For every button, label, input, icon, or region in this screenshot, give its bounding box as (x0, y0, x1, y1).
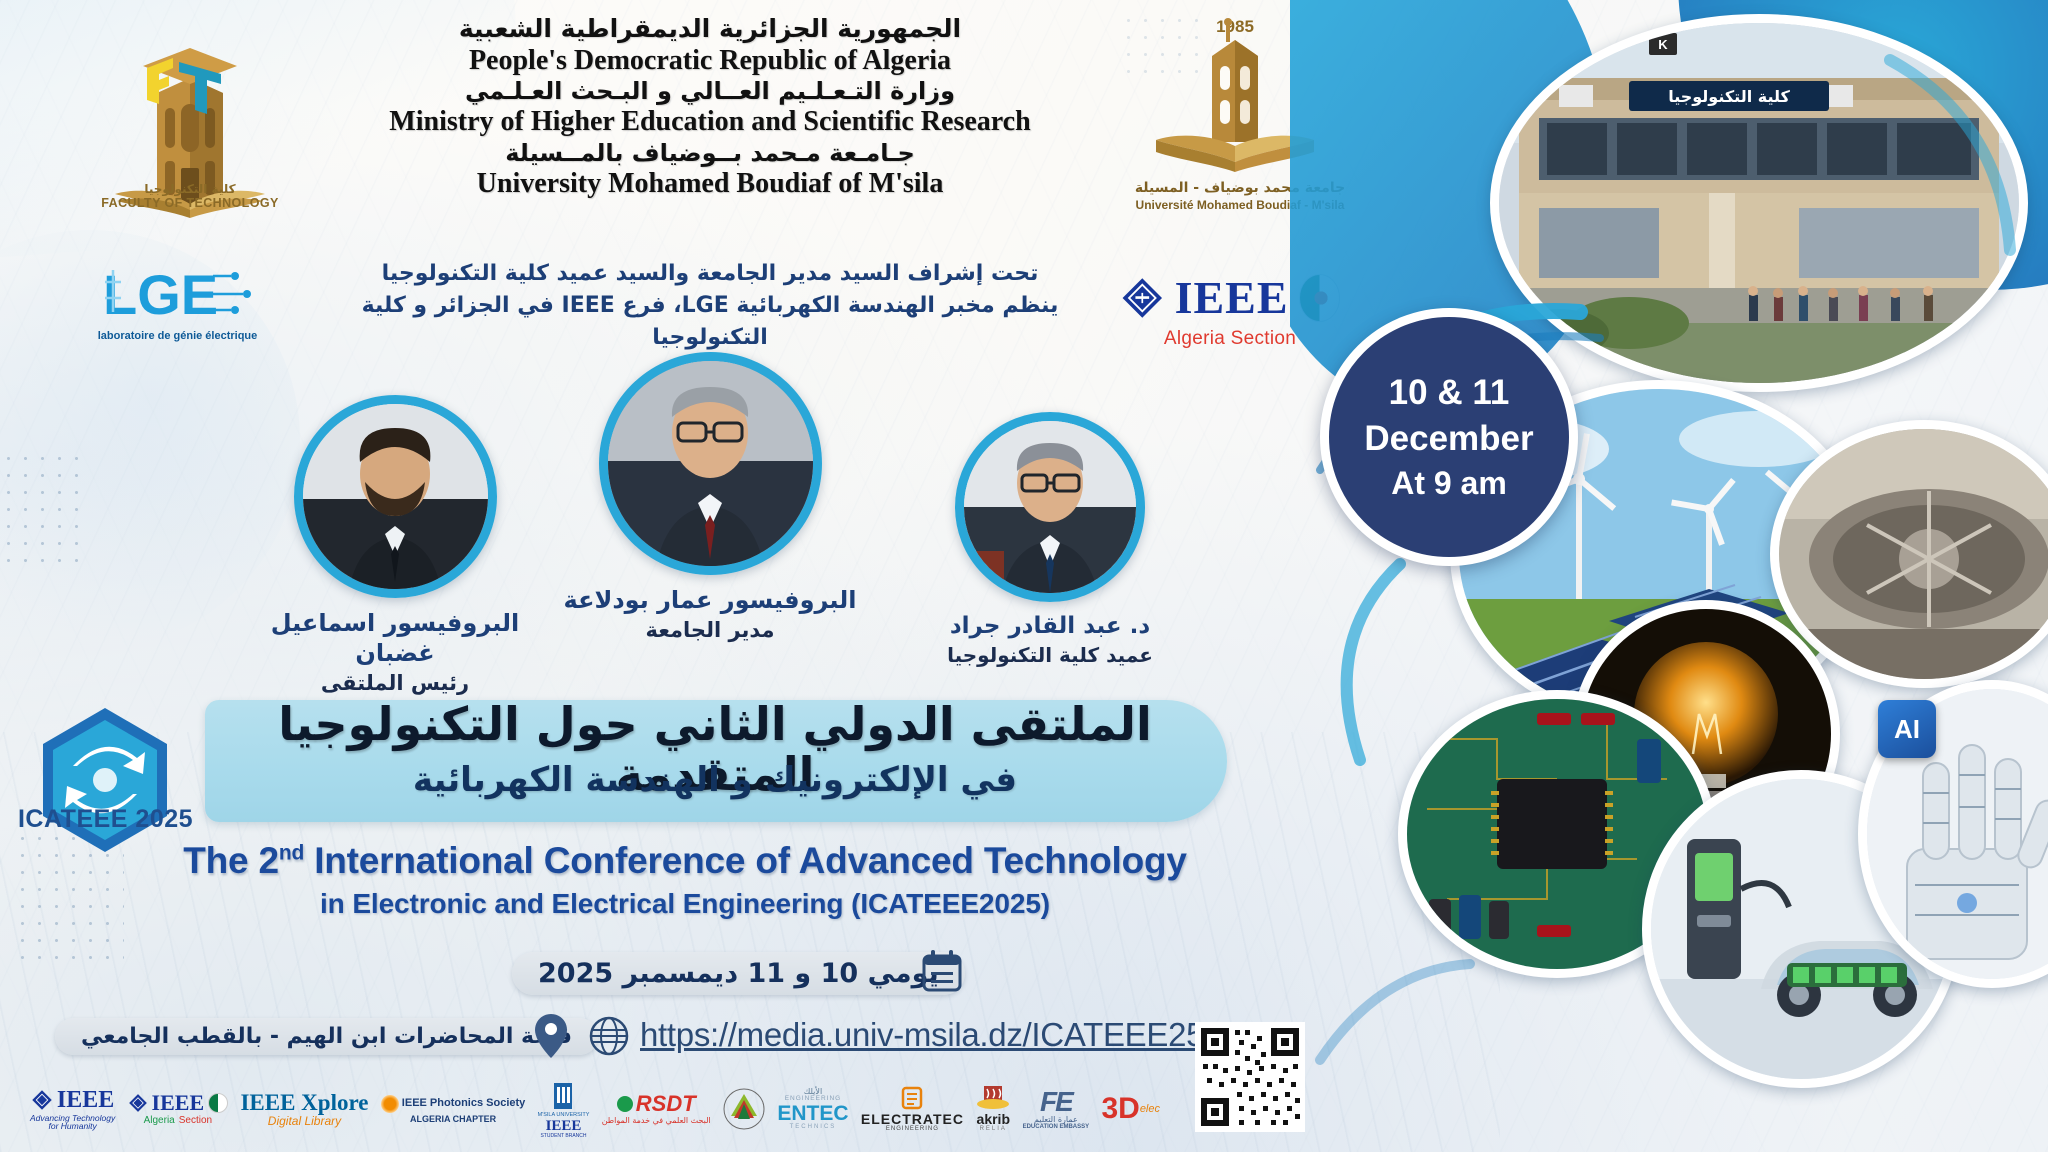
speaker-1-name: البروفيسور اسماعيل غضبان (240, 608, 550, 668)
sponsor-11-name: 3D (1101, 1094, 1139, 1124)
header-institution-text: الجمهورية الجزائرية الديمقراطية الشعبية … (330, 14, 1090, 201)
speaker-1-role: رئيس الملتقى (240, 670, 550, 696)
kersi-emblem-icon (723, 1088, 765, 1130)
sponsor-10-name: FE (1040, 1088, 1072, 1116)
sunburst-icon (381, 1095, 399, 1113)
date-badge-line-2: December (1364, 416, 1533, 462)
header-line-ar-2: وزارة التـعـلـيم العــالي و البـحث العـل… (330, 77, 1090, 105)
header-line-en-3: University Mohamed Boudiaf of M'sila (330, 167, 1090, 201)
speaker-1-avatar (294, 395, 497, 598)
speaker-card-1: البروفيسور اسماعيل غضبان رئيس الملتقى (240, 395, 550, 696)
sponsor-5-name: RSDT (636, 1093, 696, 1115)
speaker-card-3: د. عبد القادر جراد عميد كلية التكنولوجيا (900, 412, 1200, 668)
title-arabic-line-2: في الإلكترونيك و الهندسة الكهربائية (210, 762, 1220, 799)
sponsor-1-tagline-1: Algeria (144, 1116, 175, 1126)
title-english-prefix: The 2 (183, 840, 279, 881)
icateee-logo-icon (25, 700, 185, 860)
sponsor-7-tagline-2: TECHNICS (790, 1124, 837, 1130)
akrib-mark-icon (976, 1086, 1010, 1112)
faculty-building-image (1499, 23, 2019, 383)
sponsor-logo-ieee-algeria: IEEE Algeria Section (128, 1092, 229, 1126)
sponsor-9-name: akrib (977, 1112, 1010, 1126)
ieee-diamond-icon (128, 1093, 148, 1113)
sponsor-0-name: IEEE (57, 1088, 114, 1112)
calendar-icon (920, 948, 964, 994)
sponsor-logo-ieee-student-branch: M'SILA UNIVERSITY IEEE STUDENT BRANCH (538, 1079, 590, 1139)
sponsor-logo-kersi (723, 1088, 765, 1130)
university-logo-year: 1985 (1216, 17, 1254, 36)
lge-caption: laboratoire de génie électrique (80, 330, 275, 342)
sponsor-logo-ieee: IEEE Advancing Technology for Humanity (30, 1088, 115, 1131)
photo-faculty-building: كلية التكنولوجيا K (1490, 14, 2028, 392)
sponsor-5-tagline-1: البحث العلمي في خدمة المواطن (602, 1117, 711, 1125)
sponsor-1-tagline-2: Section (179, 1116, 212, 1126)
sponsor-9-tagline-1: RELIA (980, 1126, 1007, 1132)
decor-dot-grid-left (0, 450, 90, 570)
speaker-2-role: مدير الجامعة (545, 617, 875, 643)
lge-laboratory-logo-icon: LGE (95, 252, 260, 342)
header-line-ar-3: جـامـعة مـحمد بــوضياف بالمــسيلة (330, 139, 1090, 167)
sponsor-7-name: ENTEC (777, 1103, 848, 1124)
title-ordinal-suffix: nd (279, 842, 304, 865)
electratec-mark-icon (901, 1086, 923, 1110)
speaker-3-role: عميد كلية التكنولوجيا (900, 643, 1200, 668)
sponsor-logo-akrib: akrib RELIA (976, 1086, 1010, 1132)
sponsor-4-name-short: IEEE (546, 1119, 582, 1134)
speaker-3-avatar (955, 412, 1145, 602)
building-icon (550, 1079, 576, 1113)
ai-label-chip: AI (1878, 700, 1936, 758)
supervision-line-2: ينظم مخبر الهندسة الكهربائية LGE، فرع IE… (330, 290, 1090, 354)
sponsor-11-tagline-1: elec (1140, 1104, 1160, 1115)
speaker-card-2: البروفيسور عمار بودلاعة مدير الجامعة (545, 352, 875, 643)
sponsor-1-name: IEEE (152, 1092, 205, 1114)
map-pin-icon (533, 1012, 569, 1060)
sponsor-0-tagline-2: for Humanity (49, 1122, 97, 1131)
conference-website-link[interactable]: https://media.univ-msila.dz/ICATEEE25/ (640, 1016, 1213, 1054)
algeria-flag-icon (208, 1093, 228, 1113)
sponsor-logo-3d-elec: 3D elec (1101, 1094, 1160, 1124)
header-line-en-1: People's Democratic Republic of Algeria (330, 44, 1090, 78)
sponsor-logo-fe: FE عمارة التعليم EDUCATION EMBASSY (1023, 1088, 1090, 1130)
speaker-2-avatar (599, 352, 822, 575)
event-date-pill: يومي 10 و 11 ديمسمبر 2025 (512, 952, 965, 995)
sponsor-2-name: IEEE Xplore (240, 1091, 368, 1114)
faculty-caption-en: FACULTY OF TECHNOLOGY (60, 196, 320, 210)
photo-collage: كلية التكنولوجيا K (1290, 0, 2048, 1152)
globe-icon (588, 1015, 630, 1057)
icateee-wordmark: ICATEEE 2025 (8, 805, 203, 834)
sponsor-logo-ieee-photonics: IEEE Photonics Society ALGERIA CHAPTER (381, 1095, 525, 1124)
sponsor-8-name: ELECTRATEC (861, 1112, 964, 1126)
building-letter-sign: K (1649, 33, 1677, 55)
ieee-diamond-icon (31, 1089, 53, 1111)
sponsor-logo-rsdt: RSDT البحث العلمي في خدمة المواطن (602, 1093, 711, 1125)
sponsor-10-tagline-2: EDUCATION EMBASSY (1023, 1124, 1090, 1130)
speaker-2-name: البروفيسور عمار بودلاعة (545, 585, 875, 615)
speaker-3-name: د. عبد القادر جراد (900, 612, 1200, 641)
sponsor-logo-ieee-xplore: IEEE Xplore Digital Library (240, 1091, 368, 1127)
ieee-wordmark: IEEE (1175, 275, 1289, 321)
sponsor-10-tagline-1: عمارة التعليم (1034, 1116, 1078, 1124)
ieee-diamond-icon (1120, 272, 1165, 324)
conference-poster: الجمهورية الجزائرية الديمقراطية الشعبية … (0, 0, 2048, 1152)
sponsor-logo-electratec: ELECTRATEC ENGINEERING (861, 1086, 964, 1132)
venue-pill: قاعة المحاضرات ابن الهيم - بالقطب الجامع… (55, 1018, 598, 1055)
lge-wordmark: LGE (103, 263, 218, 326)
supervision-line-1: تحت إشراف السيد مدير الجامعة والسيد عميد… (330, 258, 1090, 290)
sponsor-4-tagline-2: STUDENT BRANCH (540, 1134, 586, 1139)
supervision-text: تحت إشراف السيد مدير الجامعة والسيد عميد… (330, 258, 1090, 354)
building-sign: كلية التكنولوجيا (1629, 81, 1829, 111)
faculty-logo-caption: كلية التكنولوجيا FACULTY OF TECHNOLOGY (60, 182, 320, 210)
title-english-line-2: in Electronic and Electrical Engineering… (150, 888, 1220, 920)
title-english-line-1: The 2nd International Conference of Adva… (150, 840, 1220, 882)
event-date-badge: 10 & 11 December At 9 am (1320, 308, 1578, 566)
sponsor-8-tagline-1: ENGINEERING (886, 1126, 939, 1132)
qr-code[interactable] (1195, 1022, 1305, 1132)
sponsor-3-name: IEEE Photonics Society (402, 1098, 525, 1110)
faculty-caption-ar: كلية التكنولوجيا (60, 182, 320, 196)
header-line-en-2: Ministry of Higher Education and Scienti… (330, 105, 1090, 139)
date-badge-line-3: At 9 am (1391, 462, 1507, 504)
sponsor-logo-entec: الأيلك ENGINEERING ENTEC TECHNICS (777, 1088, 848, 1130)
title-english-rest: International Conference of Advanced Tec… (304, 840, 1187, 881)
sponsor-logos-strip: IEEE Advancing Technology for Humanity I… (30, 1078, 1160, 1140)
rsdt-mark-icon (617, 1096, 633, 1112)
header-line-ar-1: الجمهورية الجزائرية الديمقراطية الشعبية (330, 14, 1090, 44)
sponsor-2-tagline-1: Digital Library (268, 1115, 341, 1127)
turbine-image (1779, 429, 2048, 679)
sponsor-3-tagline-2: ALGERIA CHAPTER (410, 1115, 496, 1124)
date-badge-line-1: 10 & 11 (1389, 370, 1510, 416)
